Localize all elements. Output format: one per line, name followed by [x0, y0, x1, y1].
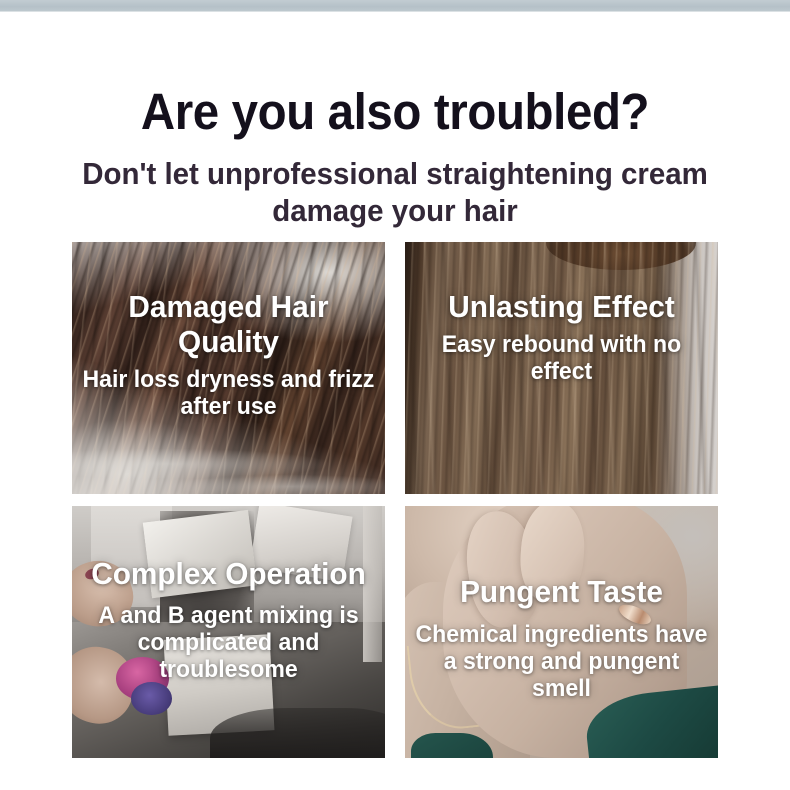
panel-pungent-taste: Pungent Taste Chemical ingredients have …	[405, 506, 718, 758]
panel-caption: Damaged Hair Quality Hair loss dryness a…	[72, 289, 385, 420]
page-subtitle: Don't let unprofessional straightening c…	[53, 155, 737, 229]
panel-body-text: Chemical ingredients have a strong and p…	[411, 621, 711, 702]
problem-panel-grid: Damaged Hair Quality Hair loss dryness a…	[72, 242, 718, 758]
panel-body-text: Hair loss dryness and frizz after use	[78, 366, 378, 420]
panel-caption: Pungent Taste Chemical ingredients have …	[405, 574, 718, 702]
panel-heading: Unlasting Effect	[411, 289, 711, 324]
top-decorative-strip	[0, 0, 790, 12]
panel-body-text: A and B agent mixing is complicated and …	[78, 602, 378, 683]
panel-caption: Unlasting Effect Easy rebound with no ef…	[405, 289, 718, 385]
page-title: Are you also troubled?	[28, 84, 763, 140]
panel-heading: Complex Operation	[78, 556, 378, 591]
panel-unlasting-effect: Unlasting Effect Easy rebound with no ef…	[405, 242, 718, 494]
headline-block: Are you also troubled? Don't let unprofe…	[0, 84, 790, 229]
panel-caption: Complex Operation A and B agent mixing i…	[72, 556, 385, 683]
panel-complex-operation: Complex Operation A and B agent mixing i…	[72, 506, 385, 758]
salon-cape	[210, 708, 385, 758]
panel-body-text: Easy rebound with no effect	[411, 331, 711, 385]
panel-heading: Pungent Taste	[411, 574, 711, 609]
panel-heading: Damaged Hair Quality	[78, 289, 378, 359]
panel-damaged-hair-quality: Damaged Hair Quality Hair loss dryness a…	[72, 242, 385, 494]
